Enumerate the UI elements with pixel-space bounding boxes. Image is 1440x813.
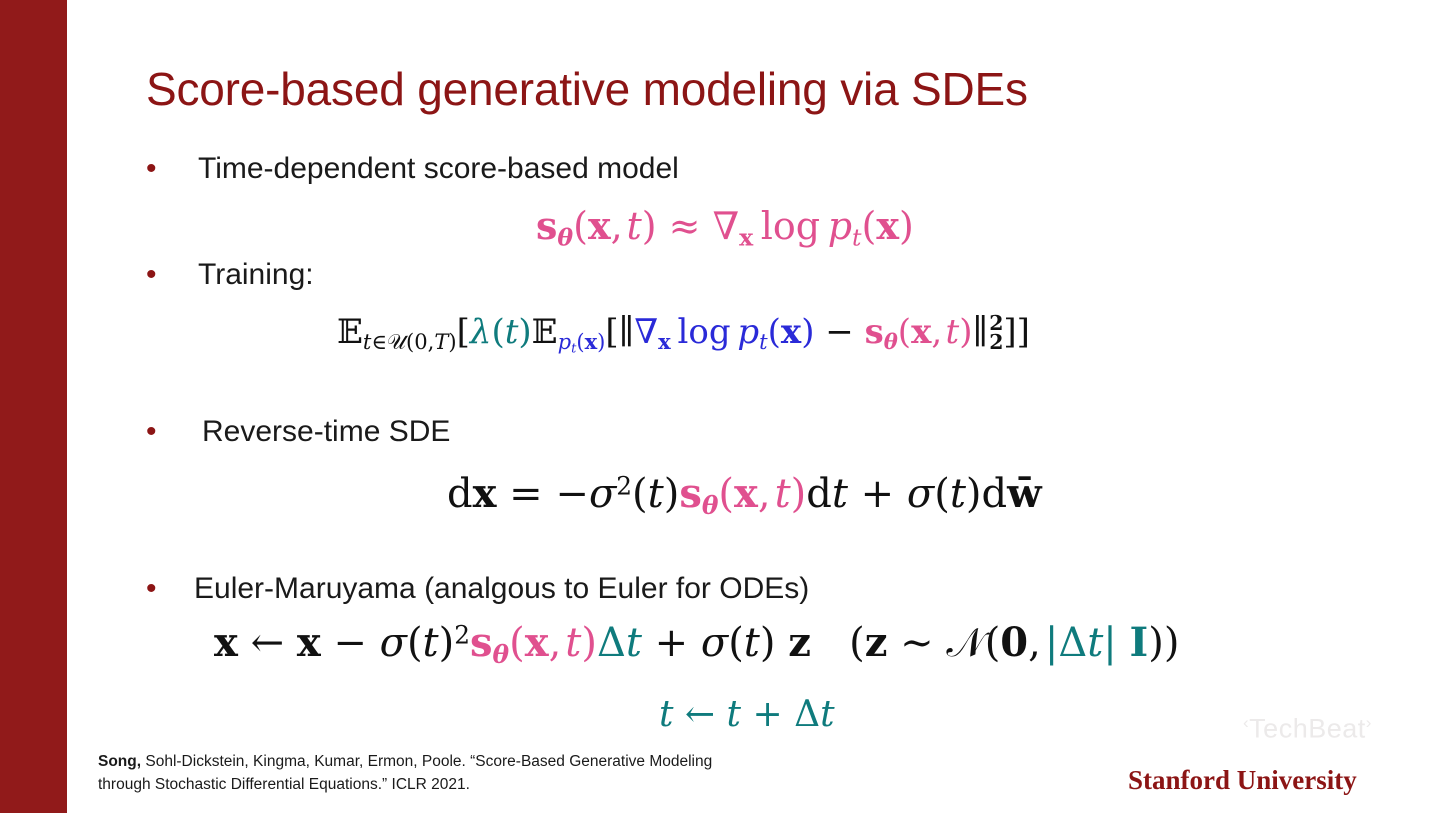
techbeat-watermark: ‹TechBeat› bbox=[1243, 713, 1372, 744]
equation-score-model: sθ(x, t) ≈ ∇x log pt(x) bbox=[536, 203, 914, 248]
bullet-item-reverse-sde: • Reverse-time SDE bbox=[146, 415, 450, 449]
equation-euler-maruyama-update: x ← x − σ(t)2sθ(x, t)Δt + σ(t) z (z ∼ 𝒩(… bbox=[214, 619, 1179, 666]
bullet-item-training: • Training: bbox=[146, 258, 314, 292]
page-title: Score-based generative modeling via SDEs bbox=[146, 62, 1028, 116]
bullet-label: Training: bbox=[198, 258, 314, 292]
bullet-dot-icon: • bbox=[146, 417, 202, 447]
slide-canvas: Score-based generative modeling via SDEs… bbox=[0, 0, 1440, 813]
watermark-tick-right-icon: › bbox=[1366, 713, 1372, 732]
bullet-item-score-model: • Time-dependent score-based model bbox=[146, 152, 679, 186]
bullet-label: Euler-Maruyama (analgous to Euler for OD… bbox=[194, 572, 809, 606]
equation-time-step: t ← t + Δt bbox=[659, 694, 835, 735]
bullet-label: Reverse-time SDE bbox=[202, 415, 450, 449]
citation-footnote: Song, Sohl-Dickstein, Kingma, Kumar, Erm… bbox=[98, 750, 918, 797]
institution-logo-text: Stanford University bbox=[1128, 765, 1357, 796]
citation-author: Song, bbox=[98, 753, 141, 770]
equation-reverse-time-sde: dx = −σ2(t)sθ(x, t)dt + σ(t)dw̄ bbox=[447, 470, 1042, 517]
bullet-item-euler-maruyama: • Euler-Maruyama (analgous to Euler for … bbox=[146, 572, 809, 606]
citation-line-1: Sohl-Dickstein, Kingma, Kumar, Ermon, Po… bbox=[141, 753, 712, 770]
bullet-dot-icon: • bbox=[146, 154, 198, 184]
watermark-label: TechBeat bbox=[1249, 713, 1366, 743]
left-accent-bar bbox=[0, 0, 67, 813]
bullet-label: Time-dependent score-based model bbox=[198, 152, 679, 186]
bullet-dot-icon: • bbox=[146, 260, 198, 290]
citation-line-2: through Stochastic Differential Equation… bbox=[98, 776, 470, 793]
bullet-dot-icon: • bbox=[146, 574, 194, 604]
equation-training-objective: 𝔼t∈𝒰(0,T)[λ(t)𝔼pt(x)[∥∇x log pt(x) − sθ(… bbox=[337, 312, 1030, 353]
